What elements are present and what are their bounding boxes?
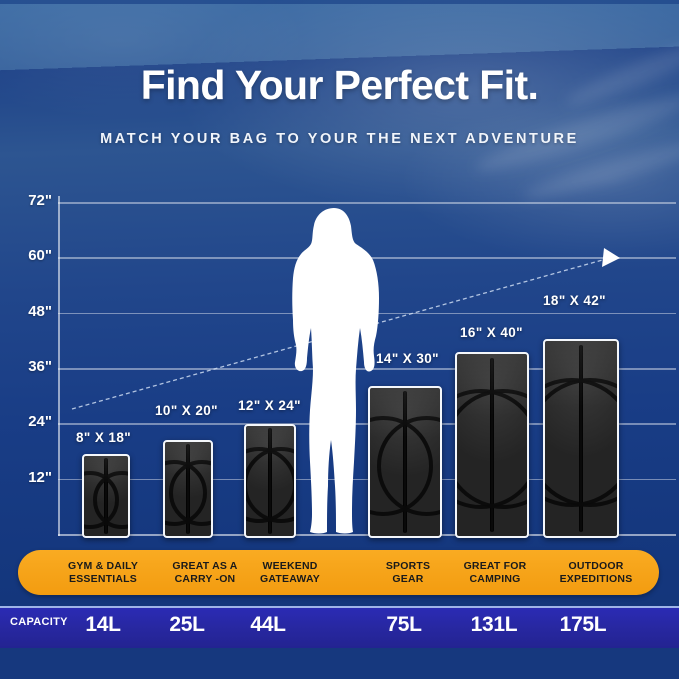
y-tick-label: 36" bbox=[6, 358, 52, 375]
use-case-label: OUTDOOR EXPEDITIONS bbox=[536, 550, 656, 595]
y-tick-label: 72" bbox=[6, 192, 52, 209]
top-edge-strip bbox=[0, 0, 679, 4]
capacity-value: 25L bbox=[148, 612, 226, 638]
bag-sheen bbox=[545, 341, 617, 407]
bag-bar[interactable] bbox=[543, 339, 619, 538]
infographic-canvas: Find Your Perfect Fit. MATCH YOUR BAG TO… bbox=[0, 0, 679, 679]
bag-sheen bbox=[246, 426, 294, 463]
use-case-label: GYM & DAILY ESSENTIALS bbox=[44, 550, 162, 595]
capacity-value: 75L bbox=[364, 612, 444, 638]
bag-sheen bbox=[165, 442, 211, 474]
bag-dimension-label: 10" X 20" bbox=[155, 403, 218, 418]
bag-dimension-label: 14" X 30" bbox=[376, 351, 439, 366]
capacity-value: 14L bbox=[64, 612, 142, 638]
bag-sheen bbox=[370, 388, 440, 438]
capacity-value: 44L bbox=[228, 612, 308, 638]
capacity-value: 131L bbox=[452, 612, 536, 638]
bag-dimension-label: 18" X 42" bbox=[543, 293, 606, 308]
bag-bar[interactable] bbox=[82, 454, 130, 538]
gridline bbox=[58, 202, 676, 204]
y-tick-label: 12" bbox=[6, 469, 52, 486]
capacity-value: 175L bbox=[540, 612, 626, 638]
bag-bar[interactable] bbox=[163, 440, 213, 538]
bag-bar[interactable] bbox=[455, 352, 529, 538]
y-tick-label: 60" bbox=[6, 247, 52, 264]
bag-dimension-label: 16" X 40" bbox=[460, 325, 523, 340]
use-case-label: WEEKEND GATEAWAY bbox=[228, 550, 352, 595]
bag-bar[interactable] bbox=[368, 386, 442, 538]
footer-strip bbox=[0, 648, 679, 679]
use-case-label: GREAT FOR CAMPING bbox=[440, 550, 550, 595]
page-title: Find Your Perfect Fit. bbox=[0, 62, 679, 109]
y-tick-label: 48" bbox=[6, 303, 52, 320]
bag-sheen bbox=[457, 354, 527, 416]
bag-dimension-label: 8" X 18" bbox=[76, 430, 131, 445]
bag-bar[interactable] bbox=[244, 424, 296, 538]
y-axis-line bbox=[58, 196, 60, 536]
y-tick-label: 24" bbox=[6, 413, 52, 430]
page-subtitle: MATCH YOUR BAG TO YOUR THE NEXT ADVENTUR… bbox=[0, 131, 679, 147]
bag-dimension-label: 12" X 24" bbox=[238, 398, 301, 413]
bag-sheen bbox=[84, 456, 128, 483]
